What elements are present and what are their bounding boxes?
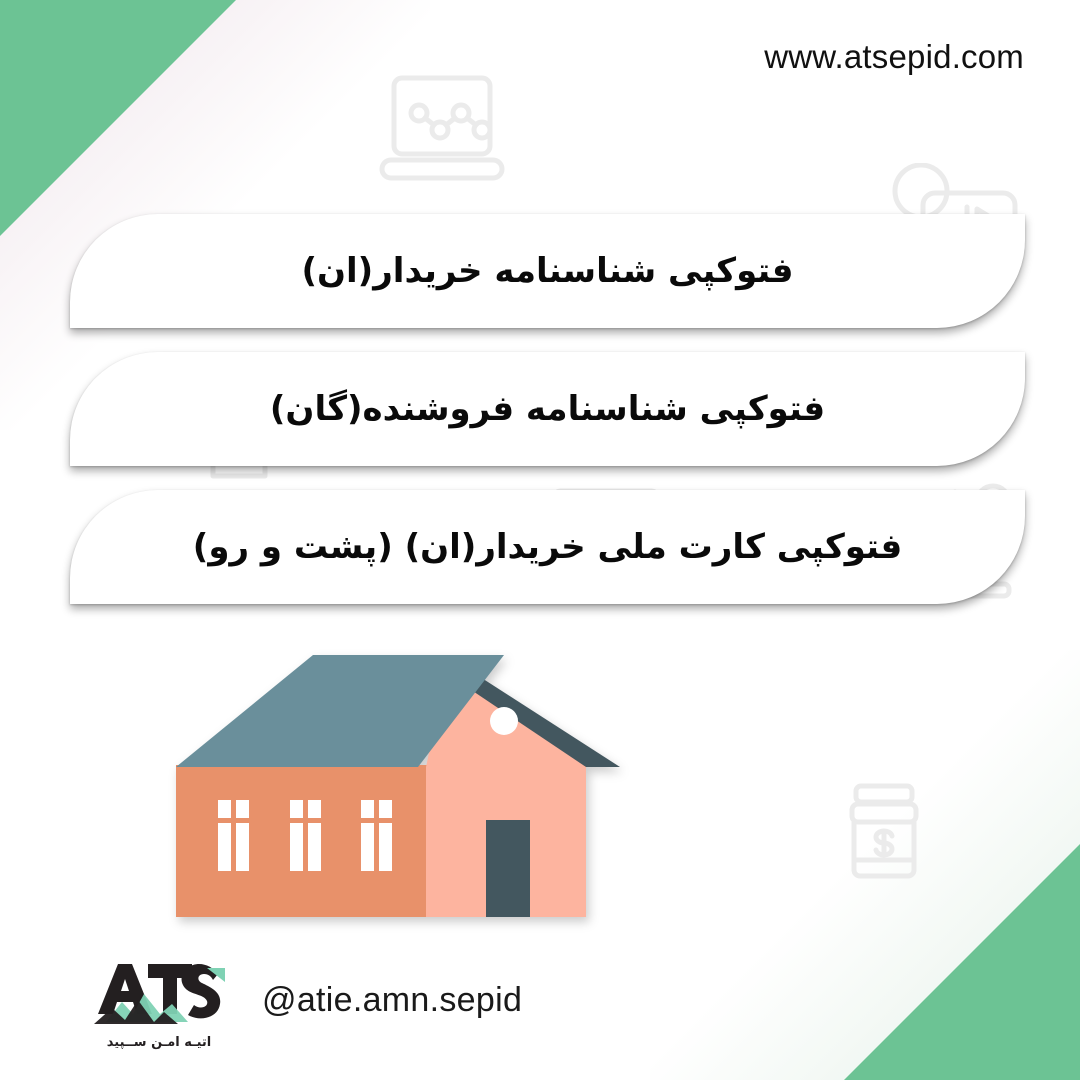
instagram-handle[interactable]: @atie.amn.sepid (262, 981, 522, 1028)
money-jar-icon (838, 782, 930, 882)
requirement-banner-2[interactable]: فتوکپی شناسنامه فروشنده(گان) (70, 352, 1025, 466)
requirement-banner-1[interactable]: فتوکپی شناسنامه خریدار(ان) (70, 214, 1025, 328)
site-url: www.atsepid.com (764, 38, 1024, 76)
requirement-label-3: فتوکپی کارت ملی خریدار(ان) (پشت و رو) (153, 526, 942, 569)
bottom-right-glow (650, 650, 1080, 1080)
house-illustration (168, 645, 628, 935)
requirement-label-1: فتوکپی شناسنامه خریدار(ان) (261, 250, 833, 293)
ats-logo: اتیـه امـن ســپید (92, 956, 226, 1052)
requirement-banner-3[interactable]: فتوکپی کارت ملی خریدار(ان) (پشت و رو) (70, 490, 1025, 604)
poster-canvas: www.atsepid.com فتوکپی شناسنامه خریدار(ا… (0, 0, 1080, 1080)
requirement-label-2: فتوکپی شناسنامه فروشنده(گان) (230, 388, 865, 431)
corner-accent-bottom-right (844, 844, 1080, 1080)
logo-tagline: اتیـه امـن ســپید (107, 1035, 211, 1050)
corner-accent-top-left (0, 0, 236, 236)
document-requirements-list: فتوکپی شناسنامه خریدار(ان) فتوکپی شناسنا… (70, 214, 1025, 628)
footer: اتیـه امـن ســپید @atie.amn.sepid (92, 956, 522, 1052)
laptop-chart-icon (372, 68, 512, 186)
